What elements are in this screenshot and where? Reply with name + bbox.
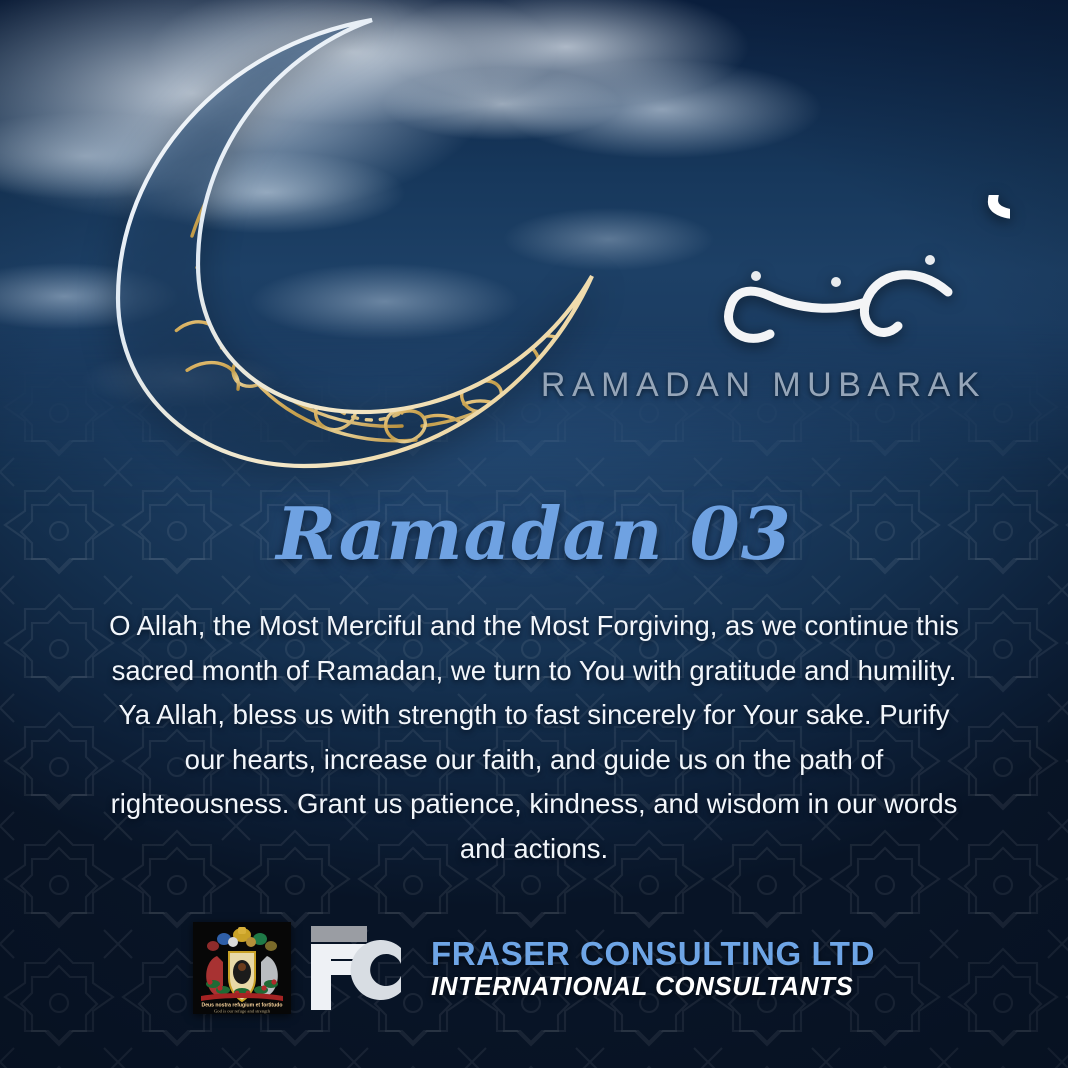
brand-text-block: FRASER CONSULTING LTD INTERNATIONAL CONS… [431,936,875,1000]
prayer-text: O Allah, the Most Merciful and the Most … [108,604,960,871]
ramadan-mubarak-caption: RAMADAN MUBARAK [541,366,986,405]
footer-branding: Deus nostra refugium et fortitudo God is… [0,920,1068,1016]
crescent-moon-icon [72,6,632,476]
ramadan-greeting-poster: رمضان مبارك RAMADAN MUBARAK Ramadan 03 O… [0,0,1068,1068]
calligraphy-line-1: رمضان مبارك [980,113,1010,243]
coat-of-arms-icon: Deus nostra refugium et fortitudo God is… [193,922,291,1014]
company-name: FRASER CONSULTING LTD [431,936,875,972]
arabic-calligraphy-ramadan-mubarak: رمضان مبارك [630,96,1010,366]
crest-motto-english: God is our refuge and strength [214,1008,271,1013]
company-tagline: INTERNATIONAL CONSULTANTS [431,972,875,1001]
page-title: Ramadan 03 [0,498,1068,570]
fc-monogram-icon [305,920,411,1016]
